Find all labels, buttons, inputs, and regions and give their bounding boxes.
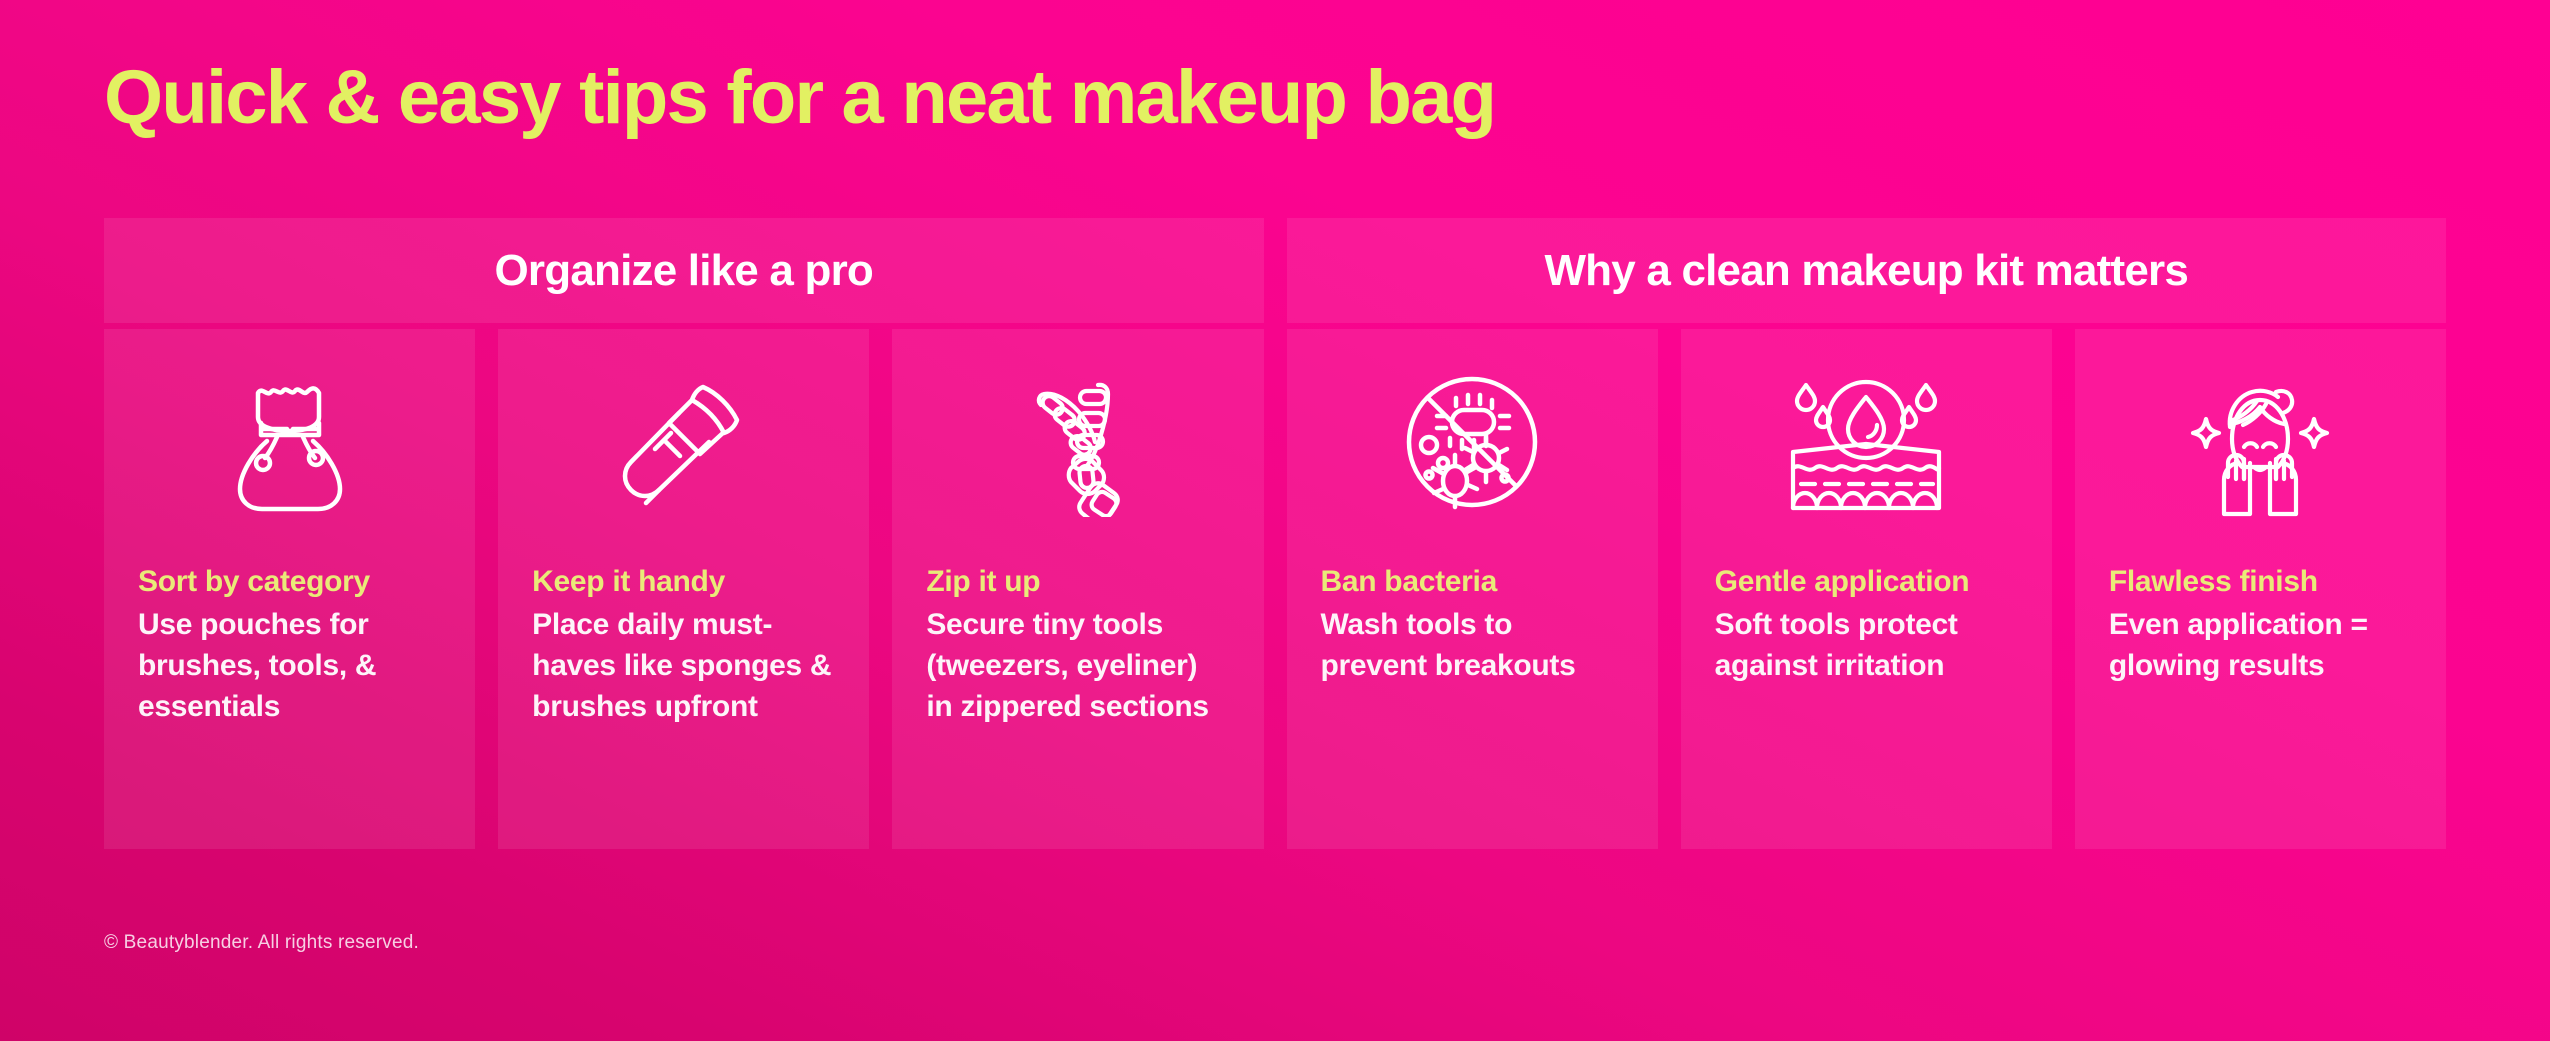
group-cards-organize: Sort by category Use pouches for brushes… [104, 329, 1264, 849]
card-body: Wash tools to prevent breakouts [1321, 604, 1624, 686]
group-header-label: Organize like a pro [495, 246, 873, 296]
card-body: Soft tools protect against irritation [1715, 604, 2018, 686]
group-cards-clean-kit: Ban bacteria Wash tools to prevent break… [1287, 329, 2447, 849]
card-title: Keep it handy [532, 565, 835, 600]
skin-hydration-icon [1715, 367, 2018, 517]
zipper-icon [926, 367, 1229, 517]
groups-container: Organize like a pro [104, 218, 2446, 849]
group-clean-kit: Why a clean makeup kit matters [1287, 218, 2447, 849]
card-title: Gentle application [1715, 565, 2018, 600]
glowing-face-icon [2109, 367, 2412, 517]
infographic-canvas: Quick & easy tips for a neat makeup bag … [0, 0, 2550, 1041]
group-organize: Organize like a pro [104, 218, 1264, 849]
page-title: Quick & easy tips for a neat makeup bag [104, 58, 1495, 138]
group-header-clean-kit: Why a clean makeup kit matters [1287, 218, 2447, 323]
card-title: Flawless finish [2109, 565, 2412, 600]
card-body: Secure tiny tools (tweezers, eyeliner) i… [926, 604, 1229, 727]
card-ban-bacteria: Ban bacteria Wash tools to prevent break… [1287, 329, 1658, 849]
card-flawless-finish: Flawless finish Even application = glowi… [2075, 329, 2446, 849]
card-body: Use pouches for brushes, tools, & essent… [138, 604, 441, 727]
group-header-organize: Organize like a pro [104, 218, 1264, 323]
card-title: Sort by category [138, 565, 441, 600]
no-bacteria-icon [1321, 367, 1624, 517]
card-keep-it-handy: Keep it handy Place daily must-haves lik… [498, 329, 869, 849]
card-body: Place daily must-haves like sponges & br… [532, 604, 835, 727]
makeup-brush-icon [532, 367, 835, 517]
card-zip-it-up: Zip it up Secure tiny tools (tweezers, e… [892, 329, 1263, 849]
card-gentle-application: Gentle application Soft tools protect ag… [1681, 329, 2052, 849]
pouch-bag-icon [138, 367, 441, 517]
card-body: Even application = glowing results [2109, 604, 2412, 686]
card-title: Ban bacteria [1321, 565, 1624, 600]
group-header-label: Why a clean makeup kit matters [1544, 246, 2188, 296]
card-title: Zip it up [926, 565, 1229, 600]
footer-copyright: © Beautyblender. All rights reserved. [104, 932, 419, 954]
card-sort-by-category: Sort by category Use pouches for brushes… [104, 329, 475, 849]
